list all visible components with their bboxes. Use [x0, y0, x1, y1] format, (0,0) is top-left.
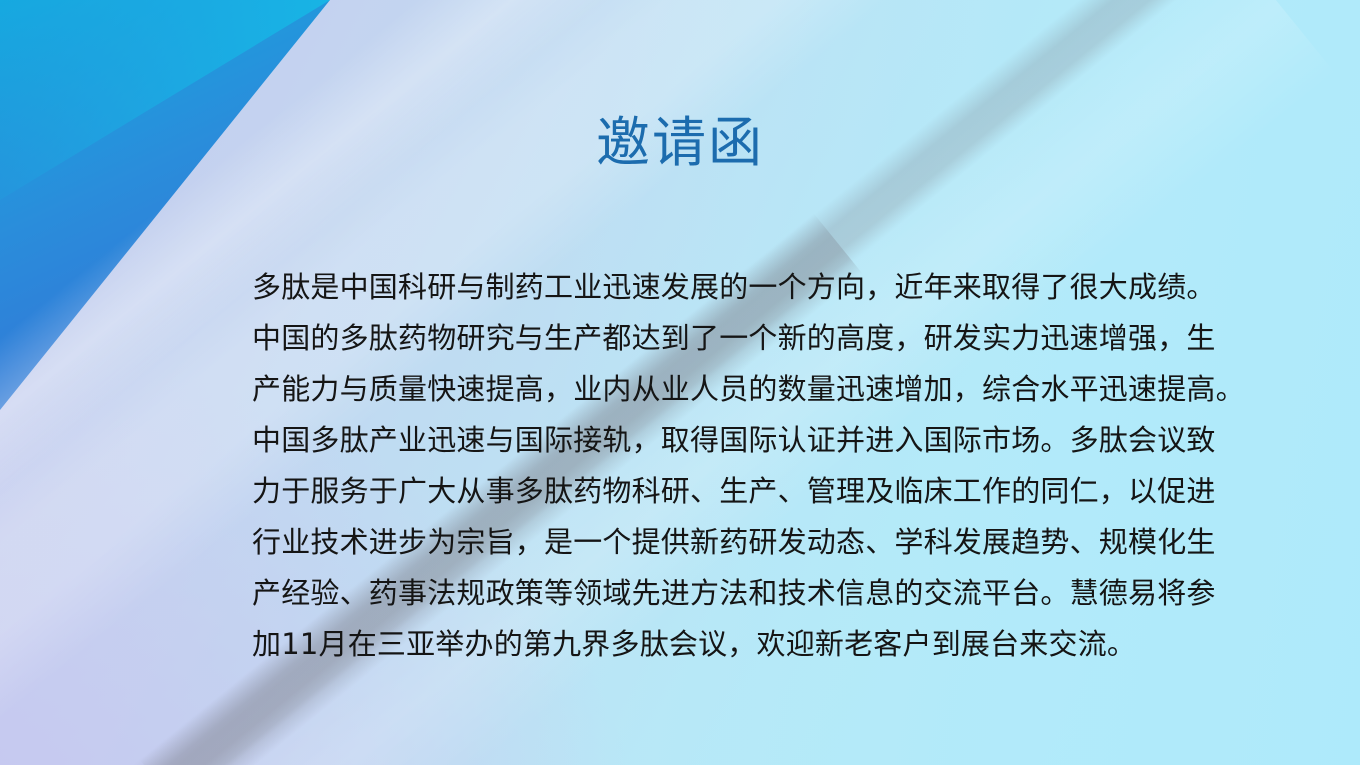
body-line: 行业技术进步为宗旨，是一个提供新药研发动态、学科发展趋势、规模化生 [252, 517, 1208, 568]
body-line: 多肽是中国科研与制药工业迅速发展的一个方向，近年来取得了很大成绩。 [252, 262, 1208, 313]
body-line: 中国多肽产业迅速与国际接轨，取得国际认证并进入国际市场。多肽会议致 [252, 415, 1208, 466]
presentation-slide: 邀请函 多肽是中国科研与制药工业迅速发展的一个方向，近年来取得了很大成绩。 中国… [0, 0, 1360, 765]
body-line: 力于服务于广大从事多肽药物科研、生产、管理及临床工作的同仁，以促进 [252, 466, 1208, 517]
slide-body-text: 多肽是中国科研与制药工业迅速发展的一个方向，近年来取得了很大成绩。 中国的多肽药… [252, 262, 1208, 670]
slide-title: 邀请函 [0, 112, 1360, 174]
body-line: 产经验、药事法规政策等领域先进方法和技术信息的交流平台。慧德易将参 [252, 568, 1208, 619]
body-line: 产能力与质量快速提高，业内从业人员的数量迅速增加，综合水平迅速提高。 [252, 364, 1208, 415]
body-line: 加11月在三亚举办的第九界多肽会议，欢迎新老客户到展台来交流。 [252, 619, 1208, 670]
body-line: 中国的多肽药物研究与生产都达到了一个新的高度，研发实力迅速增强，生 [252, 313, 1208, 364]
slide-content: 邀请函 多肽是中国科研与制药工业迅速发展的一个方向，近年来取得了很大成绩。 中国… [0, 0, 1360, 765]
